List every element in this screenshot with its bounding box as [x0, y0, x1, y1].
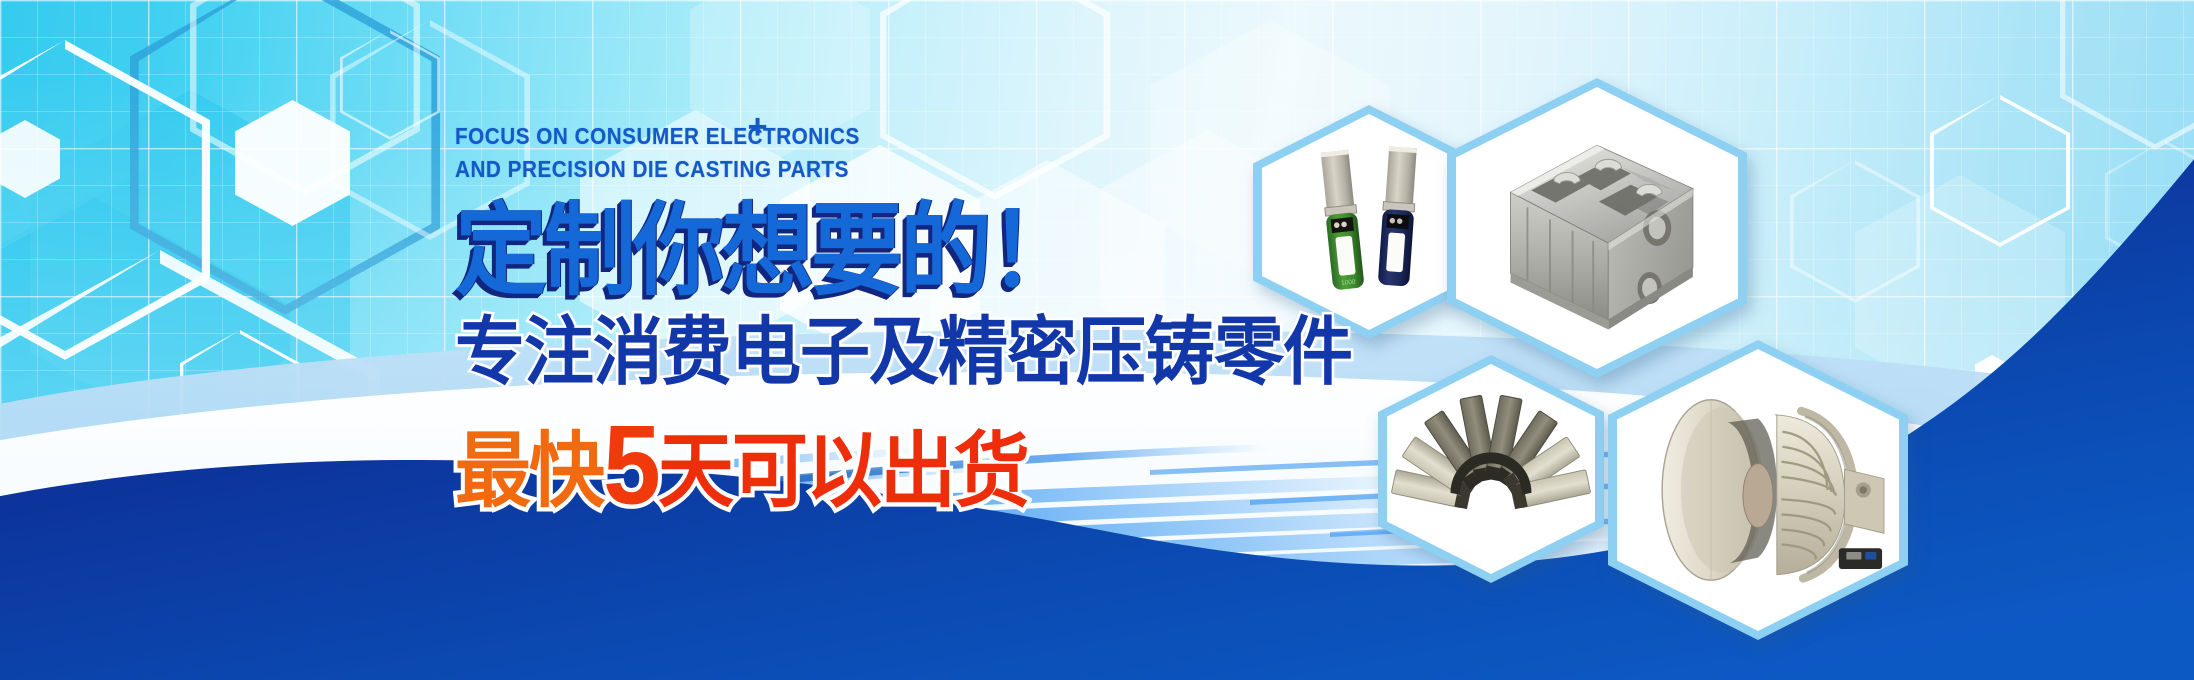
hero-banner: 1000 [0, 0, 2194, 680]
product-tile-die-cast-engine-block[interactable] [1447, 78, 1747, 378]
tagline-prefix: 最快 [455, 431, 603, 513]
plus-mark-icon: + [748, 103, 769, 151]
headline: 定制你想要的！ [455, 201, 1352, 302]
eyebrow-line-2: AND PRECISION DIE CASTING PARTS [455, 153, 1244, 186]
tagline: 最快 5 天可以出货 [455, 405, 1352, 517]
product-tile-die-cast-bracket-array[interactable] [1378, 355, 1604, 583]
product-tile-microwave-antenna-unit[interactable] [1608, 340, 1908, 640]
tagline-suffix: 天可以出货 [658, 431, 1028, 513]
tagline-number: 5 [603, 409, 658, 521]
eyebrow-text: FOCUS ON CONSUMER ELECTRONICS AND PRECIS… [455, 120, 1244, 187]
subheadline: 专注消费电子及精密压铸零件 [455, 315, 1352, 389]
banner-copy-block: FOCUS ON CONSUMER ELECTRONICS AND PRECIS… [455, 120, 1352, 509]
eyebrow-line-1: FOCUS ON CONSUMER ELECTRONICS [455, 120, 1244, 153]
